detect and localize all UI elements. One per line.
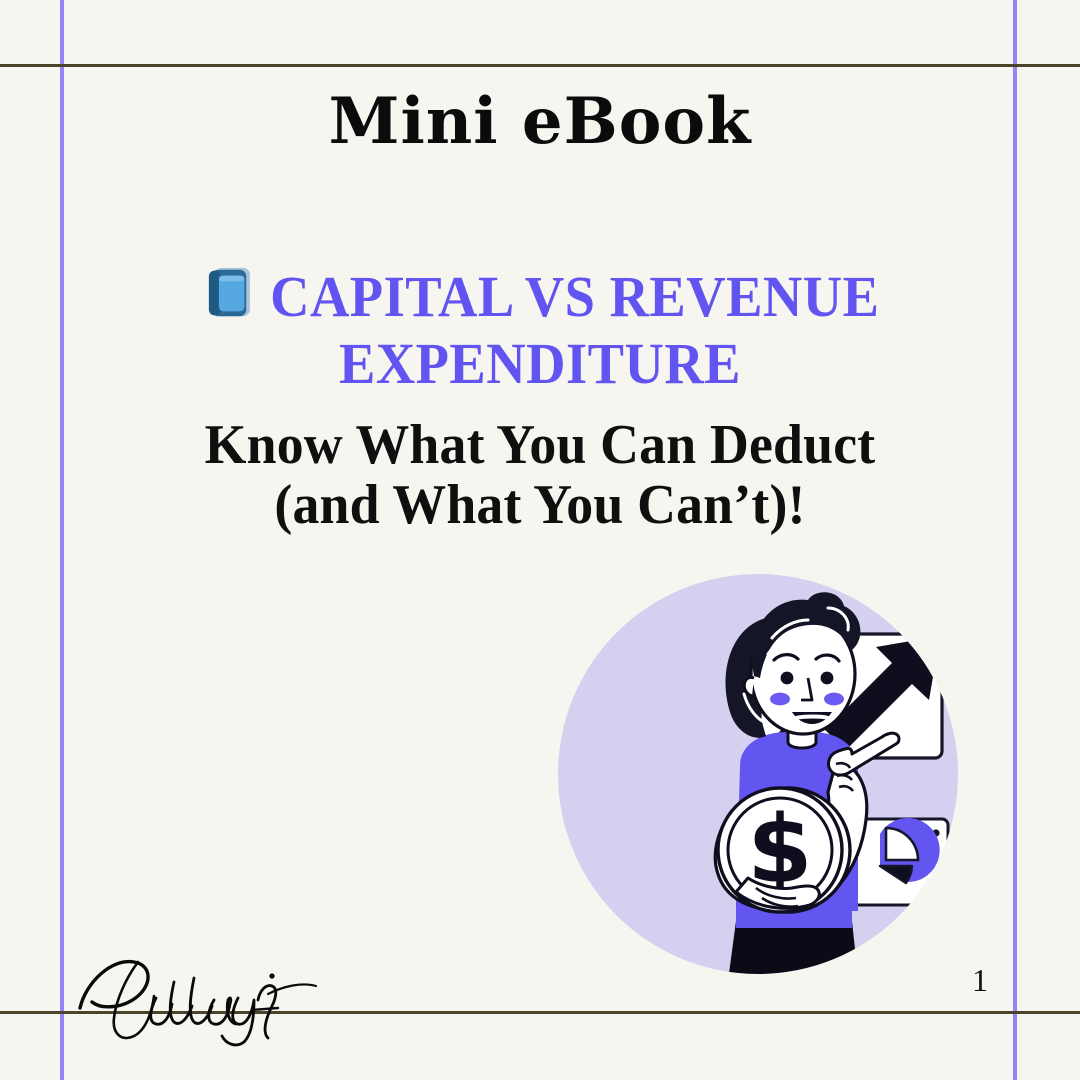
page-kicker: Mini eBook: [0, 88, 1080, 155]
guide-line-vertical-left: [60, 0, 64, 1080]
subheadline-line-2: (and What You Can’t)!: [22, 475, 1059, 535]
guide-line-horizontal-top: [0, 64, 1080, 67]
author-signature: [72, 948, 332, 1048]
headline-block: CAPITAL VS REVENUE EXPENDITURE: [0, 262, 1080, 393]
headline-line-1: CAPITAL VS REVENUE: [270, 264, 879, 329]
blue-book-icon: [201, 262, 259, 334]
guide-line-vertical-right: [1013, 0, 1017, 1080]
page-number: 1: [940, 962, 1020, 999]
headline-line-2: EXPENDITURE: [32, 334, 1047, 393]
subheadline-line-1: Know What You Can Deduct: [205, 414, 876, 476]
headline-line-1-row: CAPITAL VS REVENUE: [32, 262, 1047, 334]
hero-illustration: $: [540, 566, 980, 1006]
subheadline-block: Know What You Can Deduct (and What You C…: [22, 415, 1059, 536]
ebook-page: Mini eBook CAPITAL VS REVENUE EXPENDITUR…: [0, 0, 1080, 1080]
